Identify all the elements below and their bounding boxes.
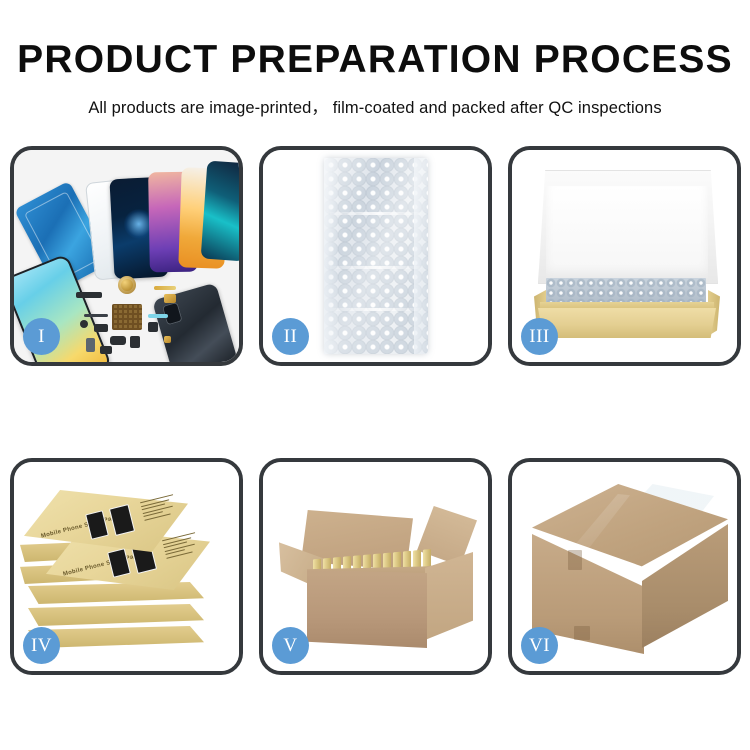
step-badge-3: III [521, 318, 558, 355]
button-flex-icon [100, 346, 112, 354]
box-inner-liner [546, 186, 708, 278]
step-badge-5: V [272, 627, 309, 664]
wrap-sheen [324, 158, 428, 354]
product-preparation-infographic: PRODUCT PREPARATION PROCESS All products… [0, 0, 750, 750]
carton-tab-lower [574, 626, 590, 640]
step-panel-6: VI [508, 458, 741, 675]
vibrator-icon [148, 322, 158, 332]
logic-board-icon [112, 304, 142, 330]
camera-module-icon [80, 320, 88, 328]
carton-tab-upper [568, 550, 582, 570]
carton-front-face [307, 570, 427, 648]
step-panel-3: III [508, 146, 741, 366]
wireless-coil-icon [118, 276, 136, 294]
speaker-mesh-icon [76, 292, 102, 298]
flex-cable-icon [154, 286, 176, 290]
box-front-panel [538, 308, 716, 338]
bubble-wrap-icon [324, 158, 428, 354]
step-panel-4: Mobile Phone Spare Parts Mobile Phone Sp… [10, 458, 243, 675]
step-badge-6: VI [521, 627, 558, 664]
step-panel-5: V [259, 458, 492, 675]
stacked-box-slab-4 [28, 604, 204, 626]
spare-parts-group [72, 274, 188, 366]
gold-connector-icon [164, 294, 176, 303]
step-panel-2: II [259, 146, 492, 366]
step-panel-1: I [10, 146, 243, 366]
earpiece-icon [110, 336, 126, 345]
antenna-cable-icon [148, 314, 168, 318]
stacked-box-printed-1: Mobile Phone Spare Parts [24, 490, 188, 552]
sim-tray-icon [130, 336, 140, 348]
sealed-carton-icon [532, 484, 728, 660]
chip-icon [94, 324, 108, 332]
ribbon-cable-icon [84, 314, 108, 317]
open-carton-icon [279, 496, 477, 654]
phone-screen-teal-icon [201, 161, 243, 262]
steps-grid: I II [0, 0, 750, 750]
screw-icon [164, 336, 171, 343]
step-badge-2: II [272, 318, 309, 355]
step-badge-4: IV [23, 627, 60, 664]
step-badge-1: I [23, 318, 60, 355]
battery-icon [86, 338, 95, 352]
